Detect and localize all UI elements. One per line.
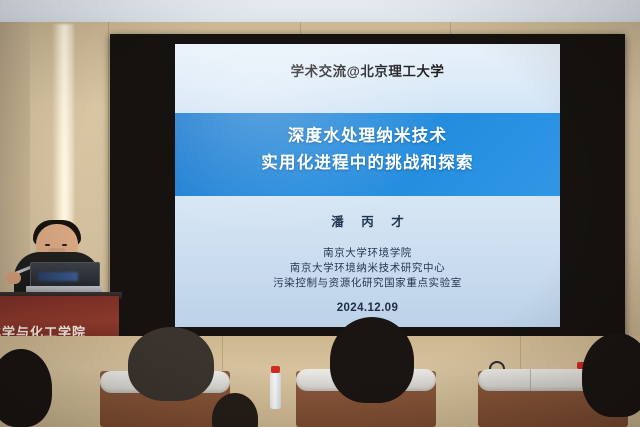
slide-speaker-name: 潘 丙 才: [175, 211, 560, 230]
laptop-lid: [30, 262, 100, 288]
lecture-hall-scene: 学术交流@北京理工大学 深度水处理纳米技术 实用化进程中的挑战和探索 潘 丙 才…: [0, 0, 640, 427]
presenter-eye: [45, 244, 50, 246]
presentation-slide: 学术交流@北京理工大学 深度水处理纳米技术 实用化进程中的挑战和探索 潘 丙 才…: [175, 44, 560, 327]
slide-title-line-1: 深度水处理纳米技术: [175, 123, 560, 150]
affiliation-line: 南京大学环境纳米技术研究中心: [175, 261, 560, 276]
affiliation-line: 污染控制与资源化研究国家重点实验室: [175, 276, 560, 291]
slide-title: 深度水处理纳米技术 实用化进程中的挑战和探索: [175, 123, 560, 177]
water-bottle-cap: [271, 366, 280, 373]
affiliation-line: 南京大学环境学院: [175, 246, 560, 261]
water-bottle: [270, 373, 281, 409]
presenter-hand: [6, 272, 21, 284]
headrest-seam: [530, 369, 531, 391]
audience-member-head: [330, 317, 414, 403]
audience-member-head: [582, 333, 640, 417]
laptop-screen: [38, 272, 78, 281]
slide-header-text: 学术交流@北京理工大学: [175, 60, 560, 80]
slide-affiliations: 南京大学环境学院 南京大学环境纳米技术研究中心 污染控制与资源化研究国家重点实验…: [175, 246, 560, 291]
audience-member-head: [128, 327, 214, 401]
presenter-eye: [62, 244, 67, 246]
slide-title-line-2: 实用化进程中的挑战和探索: [175, 150, 560, 177]
slide-date: 2024.12.09: [175, 302, 560, 314]
